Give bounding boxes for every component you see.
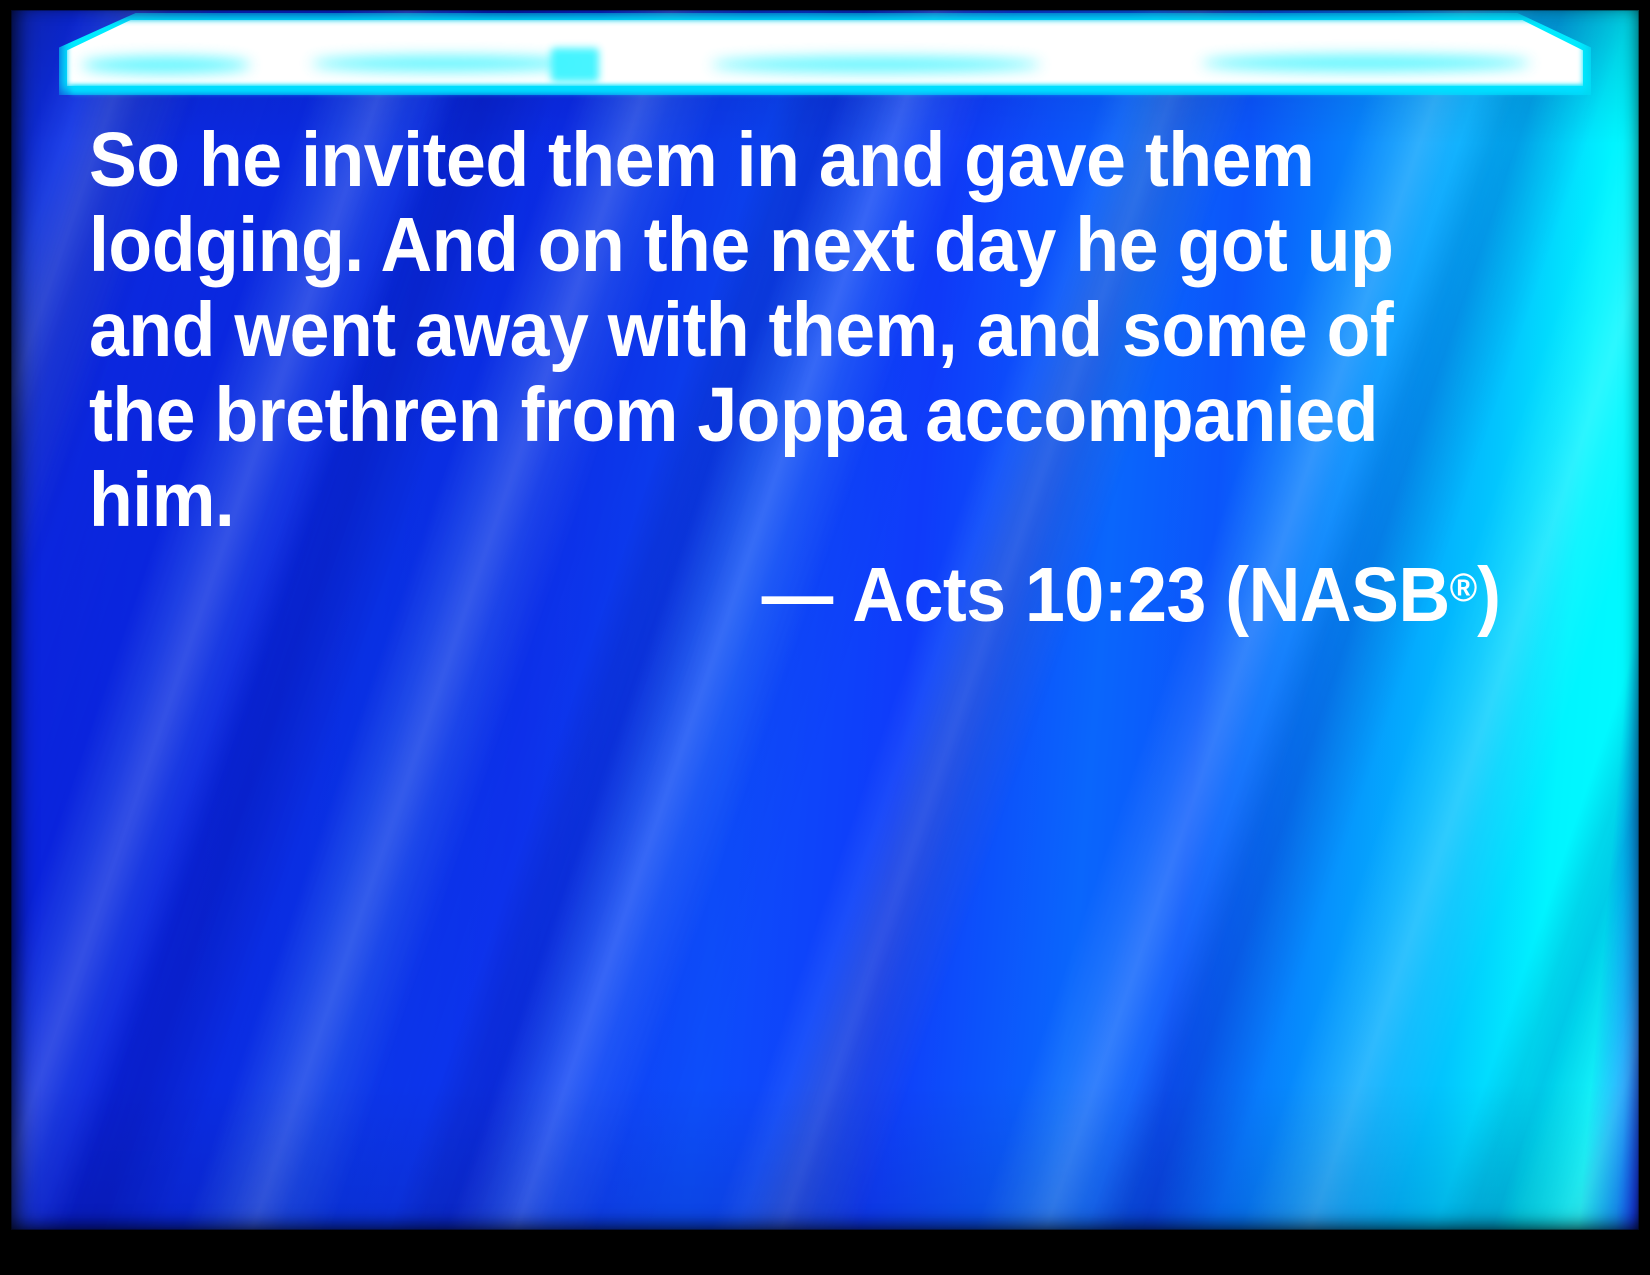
verse-body-text: So he invited them in and gave them lodg… [89, 118, 1410, 543]
verse-text-block: So he invited them in and gave them lodg… [89, 118, 1509, 543]
attribution-open-paren: ( [1226, 552, 1249, 638]
attribution-row: — Acts 10:23 (NASB®) [89, 545, 1501, 638]
verse-attribution: — Acts 10:23 (NASB®) [762, 545, 1501, 638]
attribution-em-dash: — [762, 552, 833, 638]
attribution-translation: NASB [1249, 552, 1450, 638]
registered-trademark-icon: ® [1450, 566, 1477, 610]
attribution-spacer [833, 552, 852, 638]
attribution-reference: Acts 10:23 [853, 552, 1207, 638]
blue-gradient-panel: So he invited them in and gave them lodg… [11, 10, 1639, 1230]
attribution-spacer [1206, 552, 1225, 638]
attribution-close-paren: ) [1478, 552, 1501, 638]
verse-slide: So he invited them in and gave them lodg… [0, 0, 1650, 1275]
